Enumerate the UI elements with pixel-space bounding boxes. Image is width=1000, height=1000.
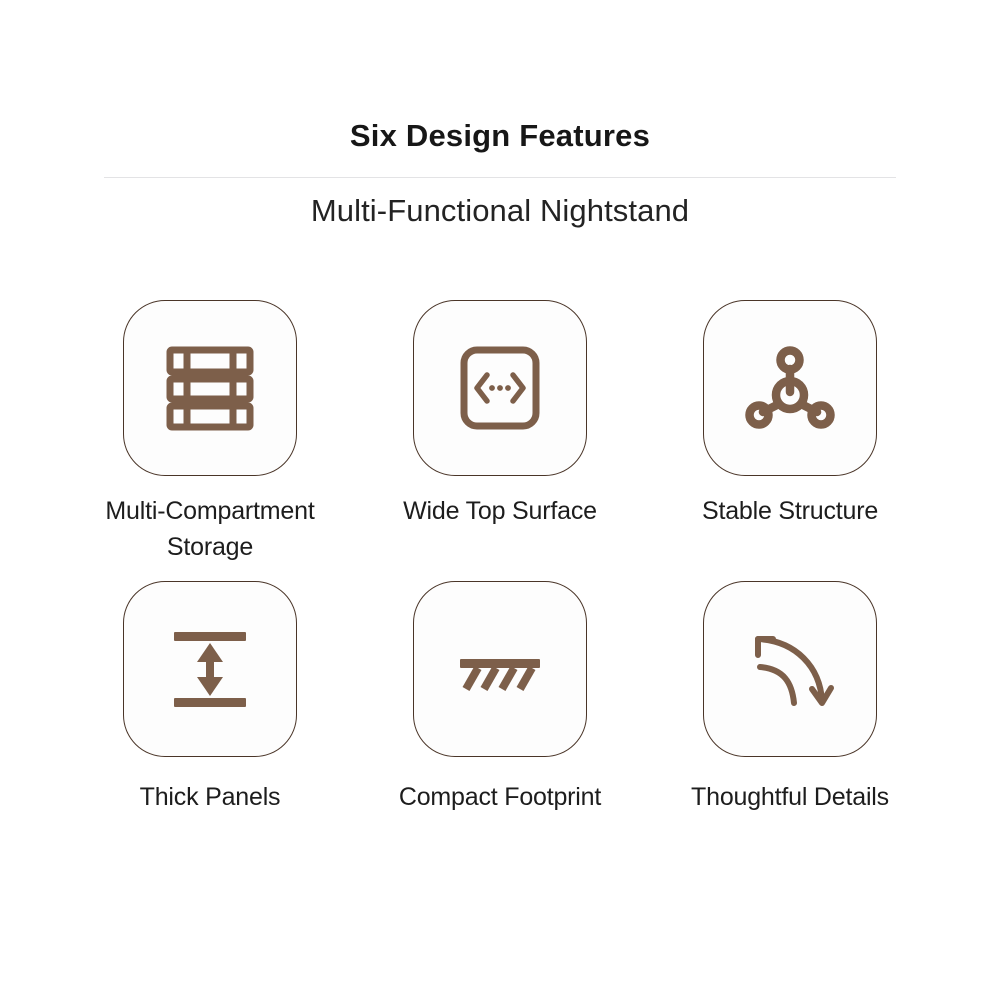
- feature-label: Compact Footprint: [355, 779, 645, 815]
- feature-label: Thick Panels: [65, 779, 355, 815]
- page-subtitle: Multi-Functional Nightstand: [0, 193, 1000, 229]
- feature-item-thoughtful-details[interactable]: Thoughtful Details: [645, 581, 935, 815]
- feature-icon-card[interactable]: [413, 581, 587, 757]
- shelves-icon: [158, 336, 262, 440]
- header-divider: [104, 177, 896, 178]
- feature-row-1: Multi-Compartment Storage: [0, 300, 1000, 565]
- feature-item-thick-panels[interactable]: Thick Panels: [65, 581, 355, 815]
- feature-poster: Six Design Features Multi-Functional Nig…: [0, 0, 1000, 1000]
- feature-grid: Multi-Compartment Storage: [0, 300, 1000, 815]
- feature-item-wide-top-surface[interactable]: Wide Top Surface: [355, 300, 645, 529]
- molecule-node-icon: [738, 336, 842, 440]
- feature-icon-card[interactable]: [703, 300, 877, 476]
- feature-icon-card[interactable]: [703, 581, 877, 757]
- feature-item-stable-structure[interactable]: Stable Structure: [645, 300, 935, 529]
- feature-label: Multi-Compartment Storage: [65, 493, 355, 565]
- feature-item-compact-footprint[interactable]: Compact Footprint: [355, 581, 645, 815]
- feature-icon-card[interactable]: [123, 581, 297, 757]
- feature-label: Stable Structure: [645, 493, 935, 529]
- feature-label: Wide Top Surface: [355, 493, 645, 529]
- feature-icon-card[interactable]: [413, 300, 587, 476]
- feature-label: Thoughtful Details: [645, 779, 935, 815]
- hatched-baseline-icon: [448, 617, 552, 721]
- vertical-thickness-arrow-icon: [158, 617, 262, 721]
- feature-item-multi-compartment-storage[interactable]: Multi-Compartment Storage: [65, 300, 355, 565]
- horizontal-double-arrow-icon: [448, 336, 552, 440]
- curved-double-arrow-icon: [738, 617, 842, 721]
- page-title: Six Design Features: [0, 118, 1000, 154]
- feature-icon-card[interactable]: [123, 300, 297, 476]
- feature-row-2: Thick Panels: [0, 581, 1000, 815]
